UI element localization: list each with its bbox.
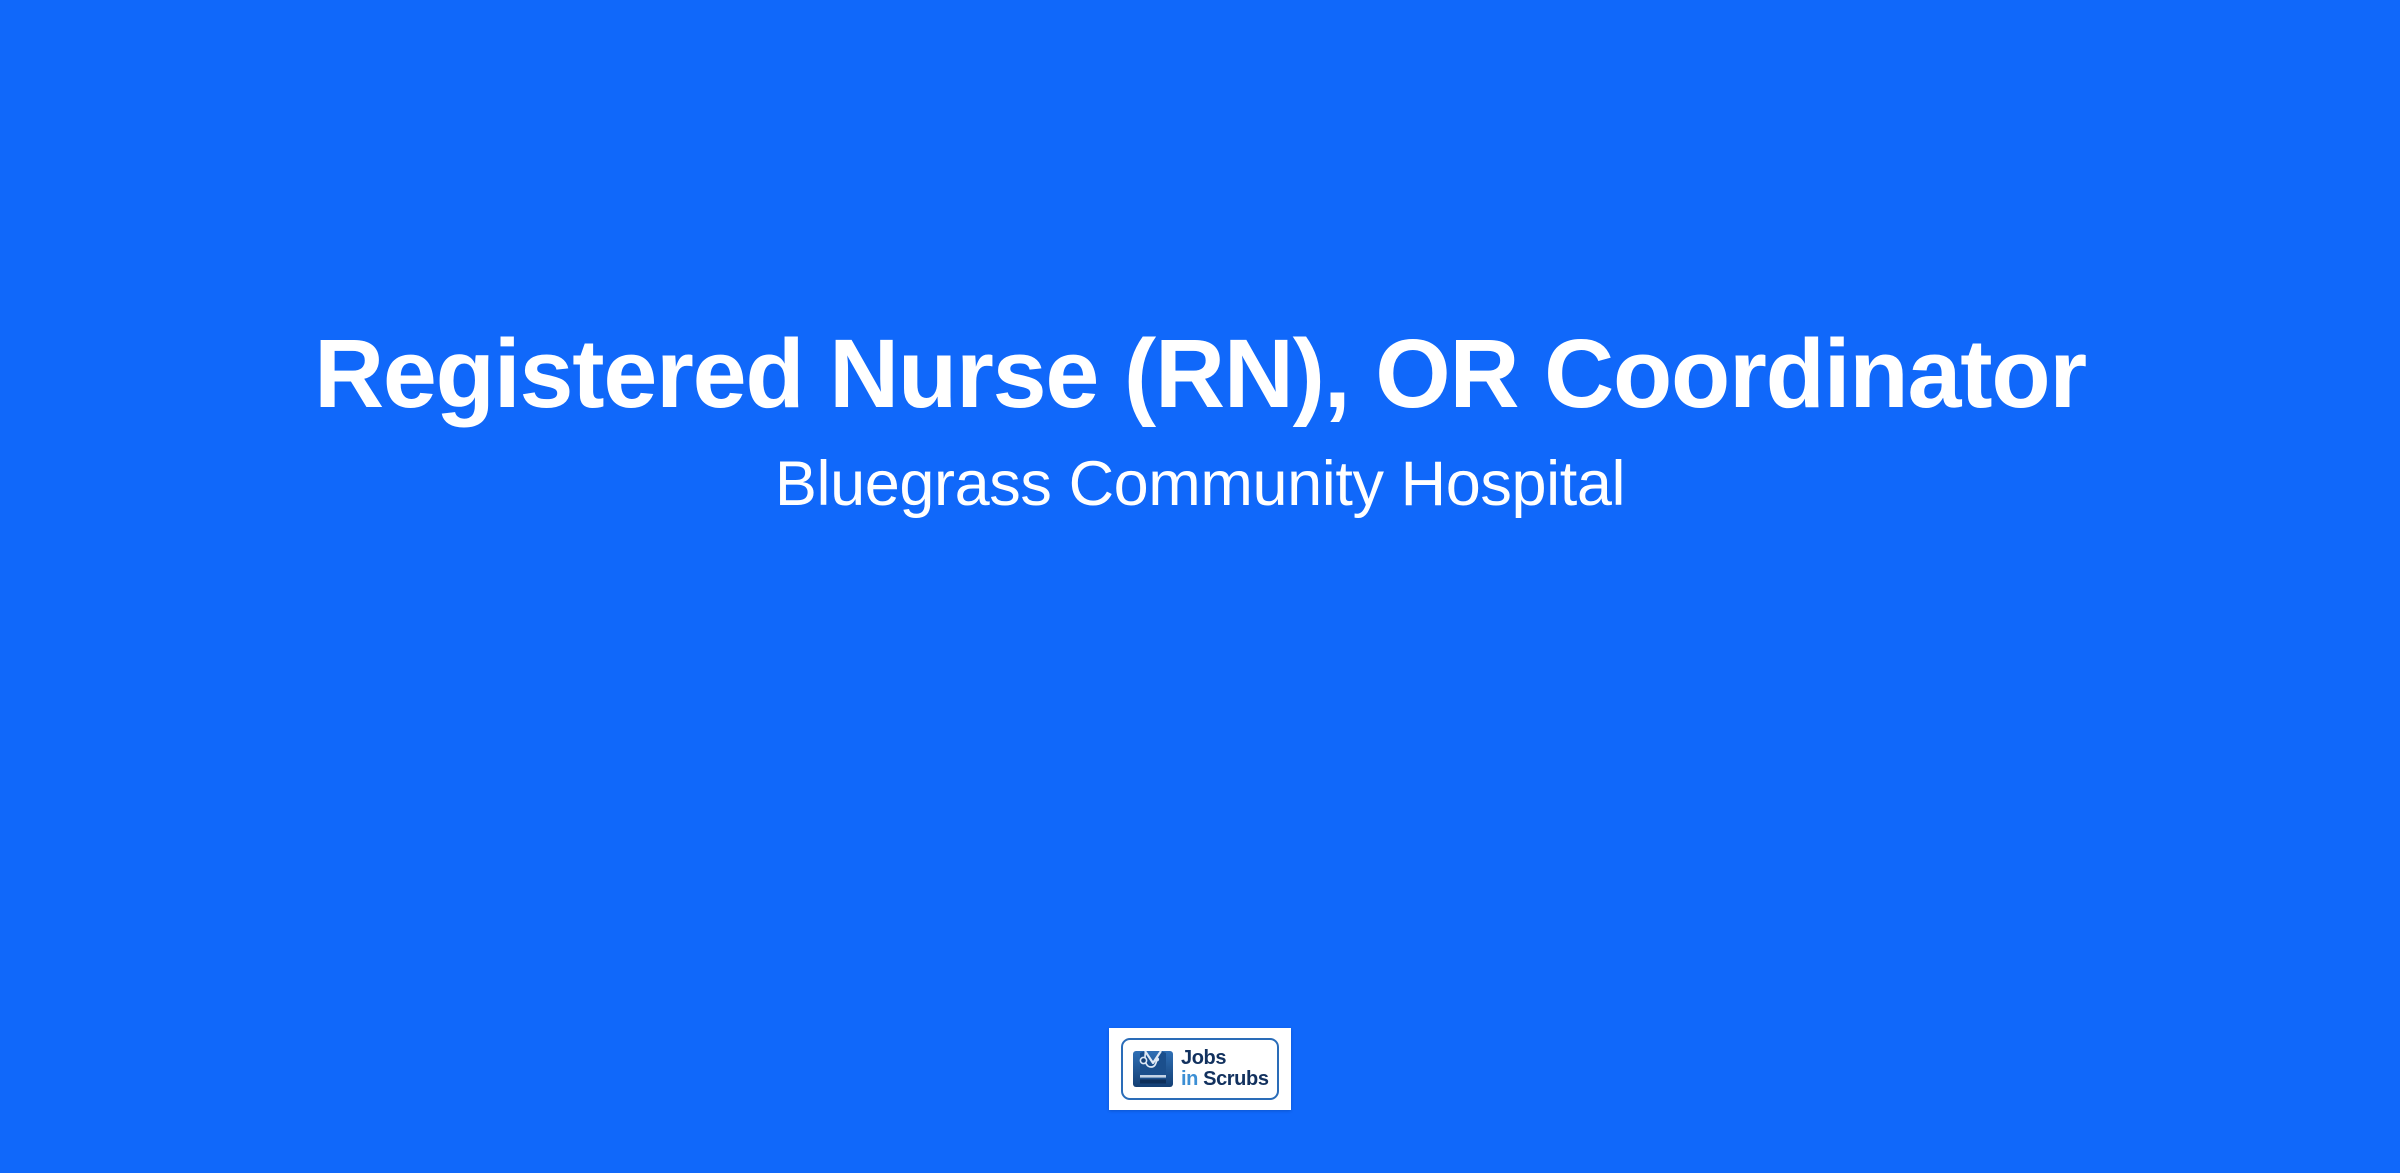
brand-wordmark: Jobs in Scrubs [1181, 1048, 1269, 1090]
brand-logo-badge: Jobs in Scrubs [1109, 1028, 1291, 1110]
company-name: Bluegrass Community Hospital [240, 447, 2160, 521]
brand-wordmark-scrubs: Scrubs [1203, 1068, 1268, 1090]
brand-wordmark-line-2: in Scrubs [1181, 1069, 1269, 1090]
hero-text-block: Registered Nurse (RN), OR Coordinator Bl… [0, 318, 2400, 521]
brand-wordmark-in: in [1181, 1068, 1203, 1090]
scrubs-stethoscope-icon [1132, 1049, 1174, 1089]
job-posting-card: Registered Nurse (RN), OR Coordinator Bl… [0, 0, 2400, 1173]
brand-logo-frame: Jobs in Scrubs [1121, 1038, 1279, 1100]
page-title: Registered Nurse (RN), OR Coordinator [240, 318, 2160, 431]
brand-wordmark-line-1: Jobs [1181, 1048, 1269, 1069]
